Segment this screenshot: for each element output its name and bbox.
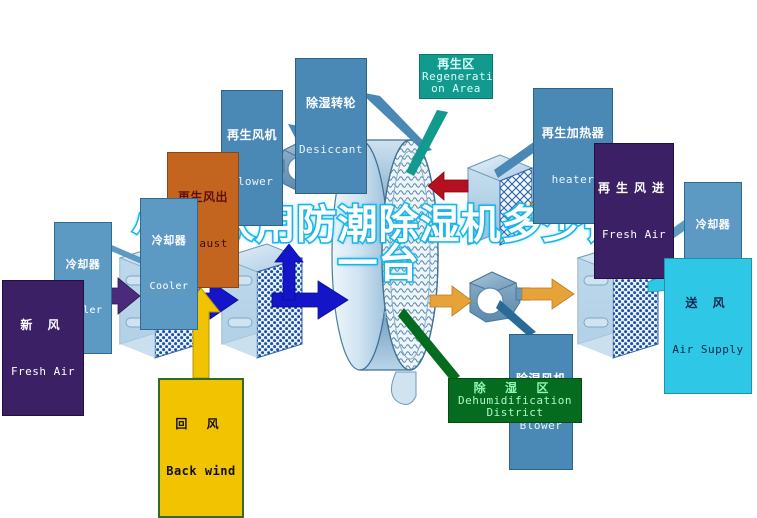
label-air-supply-cn: 送 风 bbox=[667, 297, 749, 310]
label-regeneration-fresh-air: 再生风进 Fresh Air bbox=[594, 143, 674, 279]
label-cooler-left-2-en: Cooler bbox=[143, 282, 195, 293]
label-dehumidification-district: 除 湿 区 Dehumidification District bbox=[448, 378, 582, 423]
label-regeneration-fresh-air-en: Fresh Air bbox=[597, 229, 671, 241]
arrow-dehum-2 bbox=[522, 279, 574, 309]
label-back-wind: 回 风 Back wind bbox=[158, 378, 244, 518]
label-fresh-air-cn: 新 风 bbox=[5, 319, 81, 332]
label-cooler-left-2: 冷却器 Cooler bbox=[140, 198, 198, 330]
label-dehumidification-district-en: Dehumidification District bbox=[451, 395, 579, 419]
label-regeneration-fresh-air-cn: 再生风进 bbox=[597, 182, 671, 195]
label-cooler-left-2-cn: 冷却器 bbox=[143, 236, 195, 248]
diagram-canvas: xt bbox=[0, 0, 757, 488]
label-desiccant: 除湿转轮 Desiccant bbox=[295, 58, 367, 194]
label-regeneration-area-cn: 再生区 bbox=[422, 58, 490, 71]
label-back-wind-en: Back wind bbox=[162, 465, 240, 478]
label-air-supply-en: Air Supply bbox=[667, 344, 749, 356]
label-desiccant-cn: 除湿转轮 bbox=[298, 97, 364, 110]
svg-text:xt: xt bbox=[378, 310, 388, 321]
label-dehumidification-district-cn: 除 湿 区 bbox=[451, 382, 579, 395]
dehumidification-blower bbox=[470, 272, 530, 322]
label-fresh-air: 新 风 Fresh Air bbox=[2, 280, 84, 416]
label-regeneration-blower-cn: 再生风机 bbox=[224, 129, 280, 142]
label-cooler-right-cn: 冷却器 bbox=[687, 220, 739, 232]
label-regeneration-heater-cn: 再生加热器 bbox=[536, 127, 610, 140]
label-back-wind-cn: 回 风 bbox=[162, 418, 240, 431]
label-desiccant-en: Desiccant bbox=[298, 144, 364, 156]
label-air-supply: 送 风 Air Supply bbox=[664, 258, 752, 394]
label-cooler-left-1-cn: 冷却器 bbox=[57, 260, 109, 272]
label-fresh-air-en: Fresh Air bbox=[5, 366, 81, 378]
label-regeneration-area: 再生区 Regenerati on Area bbox=[419, 54, 493, 99]
label-regeneration-area-en: Regenerati on Area bbox=[422, 71, 490, 95]
